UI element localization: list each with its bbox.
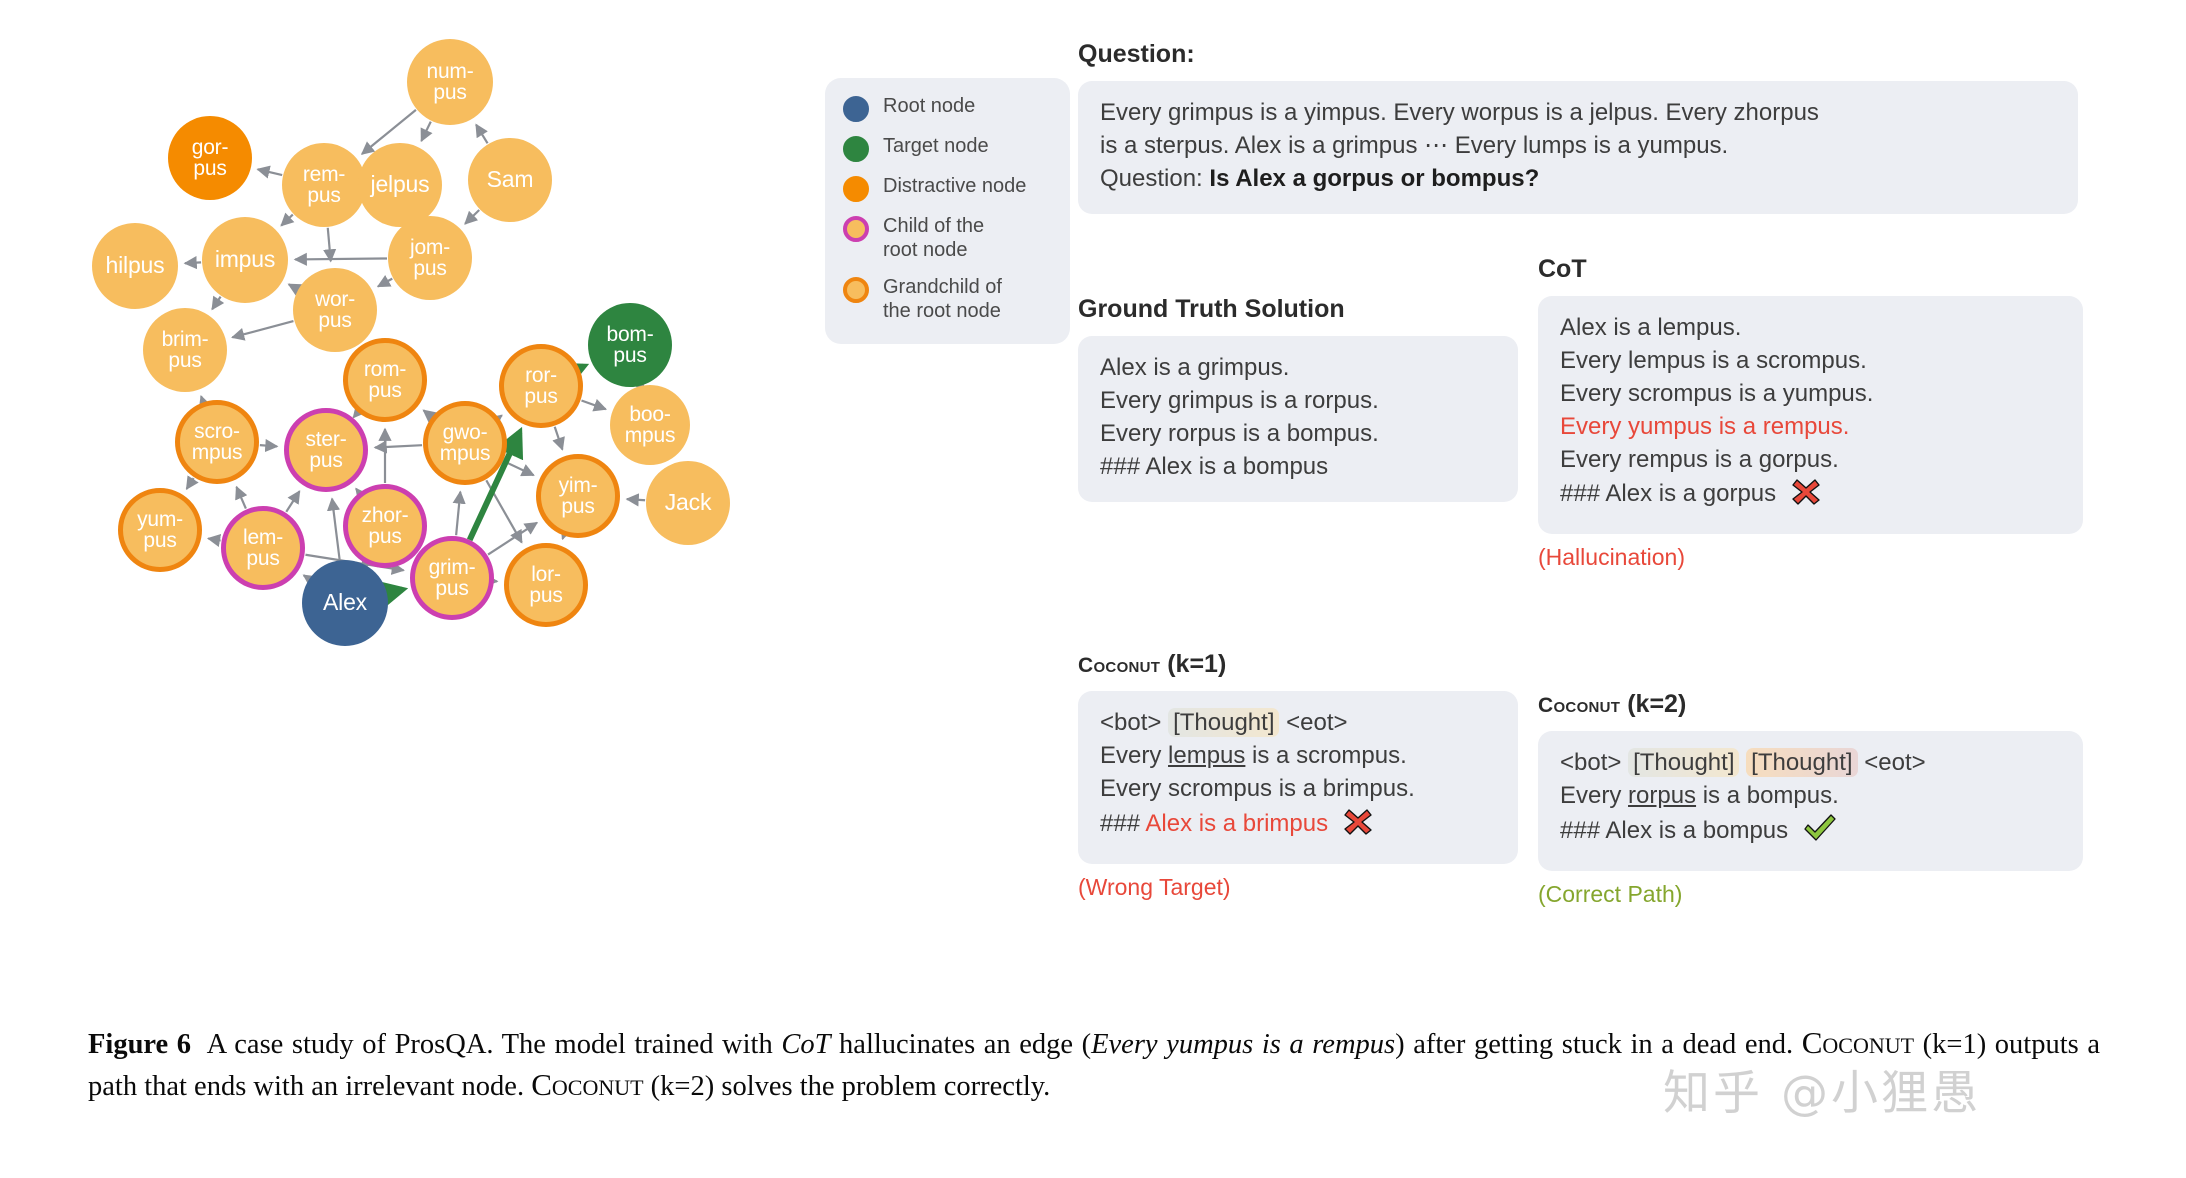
- graph-node-label: Sam: [487, 168, 534, 191]
- cot-block: CoT Alex is a lempus. Every lempus is a …: [1538, 255, 2083, 571]
- question-block: Question: Every grimpus is a yimpus. Eve…: [1078, 40, 2078, 214]
- coconut-k2-final-line: ### Alex is a bompus: [1560, 813, 2061, 853]
- graph-node-label: lor- pus: [529, 564, 562, 607]
- graph-node-label: num- pus: [426, 61, 473, 104]
- legend-item-child: Child of the root node: [843, 214, 1052, 263]
- graph-node-worpus[interactable]: wor- pus: [293, 268, 377, 352]
- graph-node-label: scro- mpus: [192, 421, 243, 464]
- graph-node-lorpus[interactable]: lor- pus: [504, 543, 588, 627]
- caption-coconut-1: Coconut: [1802, 1025, 1914, 1060]
- graph-edge: [289, 284, 298, 289]
- ground-truth-bubble: Alex is a grimpus. Every grimpus is a ro…: [1078, 336, 1518, 502]
- caption-space: [191, 1029, 207, 1060]
- graph-node-label: jom- pus: [410, 237, 450, 280]
- graph-node-label: wor- pus: [315, 289, 355, 332]
- graph-node-label: hilpus: [106, 254, 165, 277]
- ground-truth-heading: Ground Truth Solution: [1078, 295, 1518, 324]
- caption-text-1: A case study of ProsQA. The model traine…: [207, 1029, 782, 1060]
- coconut-k2-line-2-pre: Every: [1560, 782, 1628, 809]
- graph-node-jompus[interactable]: jom- pus: [388, 216, 472, 300]
- graph-edge: [421, 122, 430, 141]
- graph-edge: [627, 499, 645, 500]
- coconut-k2-line-2-underline: rorpus: [1628, 782, 1696, 809]
- coconut-k2-line-2-post: is a bompus.: [1696, 782, 1839, 809]
- graph-edge: [555, 427, 563, 450]
- coconut-k1-line-2-pre: Every: [1100, 742, 1168, 769]
- caption-text-3: ) after getting stuck in a dead end.: [1395, 1029, 1802, 1060]
- graph-edge: [563, 536, 564, 538]
- graph-edge: [201, 396, 203, 401]
- graph-node-jack[interactable]: Jack: [646, 461, 730, 545]
- graph-node-lempus[interactable]: lem- pus: [221, 506, 305, 590]
- graph-edge: [456, 492, 460, 535]
- check-icon: [1803, 813, 1837, 853]
- graph-edge: [237, 487, 246, 509]
- graph-node-impus[interactable]: impus: [202, 217, 288, 303]
- coconut-k1-block: Coconut (k=1) <bot> [Thought] <eot> Ever…: [1078, 650, 1518, 901]
- graph-edge: [423, 410, 431, 416]
- graph-node-rempus[interactable]: rem- pus: [282, 143, 366, 227]
- coconut-k1-line-2-post: is a scrompus.: [1245, 742, 1406, 769]
- coconut-k2-bubble: <bot> [Thought] [Thought] <eot> Every ro…: [1538, 731, 2083, 871]
- graph-edge: [328, 228, 331, 261]
- cot-final-line: ### Alex is a gorpus: [1560, 476, 2061, 516]
- legend-swatch-grandchild-node: [843, 277, 869, 303]
- coconut-k1-token-line: <bot> [Thought] <eot>: [1100, 707, 1496, 740]
- coconut-k2-block: Coconut (k=2) <bot> [Thought] [Thought] …: [1538, 690, 2083, 908]
- graph-node-label: gor- pus: [192, 137, 229, 180]
- coconut-k2-heading-k: (k=2): [1620, 690, 1686, 718]
- cot-final-text: ### Alex is a gorpus: [1560, 480, 1776, 507]
- cross-icon: [1343, 806, 1373, 846]
- coconut-k1-line-2-underline: lempus: [1168, 742, 1245, 769]
- graph-edge: [281, 215, 293, 226]
- graph-node-sterpus[interactable]: ster- pus: [284, 408, 368, 492]
- cot-line: Every scrompus is a yumpus.: [1560, 378, 2061, 411]
- coconut-k1-heading: Coconut (k=1): [1078, 650, 1518, 679]
- legend-item-distractive: Distractive node: [843, 174, 1052, 202]
- question-line-3: Question: Is Alex a gorpus or bompus?: [1100, 163, 2056, 196]
- question-line-2: is a sterpus. Alex is a grimpus ⋯ Every …: [1100, 130, 2056, 163]
- ground-truth-line: ### Alex is a bompus: [1100, 451, 1496, 484]
- graph-node-grimpus[interactable]: grim- pus: [410, 536, 494, 620]
- graph-node-hilpus[interactable]: hilpus: [92, 223, 178, 309]
- question-line-3-bold: Is Alex a gorpus or bompus?: [1209, 165, 1539, 192]
- legend-item-root: Root node: [843, 94, 1052, 122]
- graph-legend: Root node Target node Distractive node C…: [825, 78, 1070, 344]
- graph-edge: [356, 489, 359, 492]
- coconut-k1-final-line: ### Alex is a brimpus: [1100, 806, 1496, 846]
- caption-text-2: hallucinates an edge (: [830, 1029, 1091, 1060]
- ground-truth-block: Ground Truth Solution Alex is a grimpus.…: [1078, 295, 1518, 502]
- graph-node-label: ster- pus: [305, 429, 346, 472]
- graph-edge: [332, 499, 340, 560]
- legend-item-grandchild: Grandchild of the root node: [843, 275, 1052, 324]
- caption-text-5: (k=2) solves the problem correctly.: [644, 1071, 1051, 1102]
- graph-node-jelpus[interactable]: jelpus: [358, 143, 442, 227]
- cot-hallucinated-line: Every yumpus is a rempus.: [1560, 411, 2061, 444]
- coconut-k1-line-3: Every scrompus is a brimpus.: [1100, 773, 1496, 806]
- coconut-k2-heading-name: Coconut: [1538, 694, 1620, 717]
- thought-token: [Thought]: [1168, 708, 1279, 737]
- caption-italic-cot: CoT: [781, 1029, 830, 1060]
- graph-node-label: lem- pus: [243, 527, 283, 570]
- graph-node-label: zhor- pus: [362, 505, 409, 548]
- coconut-k1-final-hash: ###: [1100, 810, 1145, 837]
- graph-edge: [260, 445, 277, 446]
- caption-coconut-2: Coconut: [531, 1067, 643, 1102]
- legend-label-target-node: Target node: [883, 134, 989, 158]
- graph-edge: [286, 491, 299, 512]
- question-heading-text: Question: [1078, 40, 1186, 68]
- cot-line: Every rempus is a gorpus.: [1560, 444, 2061, 477]
- graph-node-yimpus[interactable]: yim- pus: [536, 454, 620, 538]
- ground-truth-line: Alex is a grimpus.: [1100, 352, 1496, 385]
- coconut-k2-final-text: ### Alex is a bompus: [1560, 817, 1788, 844]
- coconut-k1-line-2: Every lempus is a scrompus.: [1100, 740, 1496, 773]
- coconut-k2-heading: Coconut (k=2): [1538, 690, 2083, 719]
- graph-node-label: brim- pus: [162, 329, 209, 372]
- graph-node-scrompus[interactable]: scro- mpus: [175, 400, 259, 484]
- graph-edge: [187, 478, 194, 489]
- graph-edge: [212, 297, 220, 310]
- graph-node-sam[interactable]: Sam: [468, 138, 552, 222]
- question-line-1: Every grimpus is a yimpus. Every worpus …: [1100, 97, 2056, 130]
- graph-node-label: grim- pus: [429, 557, 476, 600]
- cot-note: (Hallucination): [1538, 544, 2083, 571]
- graph-edge-solution: [387, 590, 402, 594]
- graph-edge: [185, 262, 201, 263]
- figure-page: num- pusgor- pusrem- pusjelpusSamimpushi…: [0, 0, 2186, 1178]
- question-heading: Question:: [1078, 40, 2078, 69]
- graph-edge: [258, 169, 282, 175]
- caption-italic-edge: Every yumpus is a rempus: [1091, 1029, 1395, 1060]
- coconut-k1-note: (Wrong Target): [1078, 874, 1518, 901]
- ground-truth-line: Every grimpus is a rorpus.: [1100, 385, 1496, 418]
- graph-node-label: rom- pus: [364, 359, 406, 402]
- graph-node-label: gwo- mpus: [440, 422, 491, 465]
- figure-caption: Figure 6 A case study of ProsQA. The mod…: [88, 1022, 2100, 1107]
- graph-node-label: yim- pus: [559, 475, 598, 518]
- graph-node-label: ror- pus: [524, 365, 557, 408]
- graph-edge: [304, 575, 309, 578]
- explanation-column: Question: Every grimpus is a yimpus. Eve…: [1078, 40, 2138, 950]
- graph-node-rorpus[interactable]: ror- pus: [499, 344, 583, 428]
- eot-token: <eot>: [1286, 709, 1347, 736]
- prosqa-graph: num- pusgor- pusrem- pusjelpusSamimpushi…: [60, 30, 1050, 950]
- cot-bubble: Alex is a lempus. Every lempus is a scro…: [1538, 296, 2083, 534]
- graph-node-bompus[interactable]: bom- pus: [588, 303, 672, 387]
- graph-node-rompus[interactable]: rom- pus: [343, 338, 427, 422]
- legend-swatch-child-node: [843, 216, 869, 242]
- legend-label-grandchild-node: Grandchild of the root node: [883, 275, 1002, 324]
- graph-node-gwompus[interactable]: gwo- mpus: [423, 401, 507, 485]
- cot-line: Every lempus is a scrompus.: [1560, 345, 2061, 378]
- graph-edge: [499, 415, 501, 417]
- legend-swatch-root-node: [843, 96, 869, 122]
- graph-edge: [476, 125, 487, 144]
- legend-label-root-node: Root node: [883, 94, 975, 118]
- coconut-k1-heading-name: Coconut: [1078, 654, 1160, 677]
- graph-edge: [232, 321, 293, 337]
- cross-icon: [1791, 476, 1821, 516]
- question-bubble: Every grimpus is a yimpus. Every worpus …: [1078, 81, 2078, 214]
- bot-token: <bot>: [1100, 709, 1161, 736]
- graph-node-numpus[interactable]: num- pus: [407, 39, 493, 125]
- graph-node-alex[interactable]: Alex: [302, 560, 388, 646]
- graph-node-yumpus[interactable]: yum- pus: [118, 488, 202, 572]
- thought-token: [Thought]: [1746, 748, 1857, 777]
- coconut-k1-heading-k: (k=1): [1160, 650, 1226, 678]
- graph-node-label: impus: [215, 248, 275, 271]
- graph-node-label: bom- pus: [606, 324, 653, 367]
- graph-node-boompus[interactable]: boo- mpus: [610, 385, 690, 465]
- cot-line: Alex is a lempus.: [1560, 312, 2061, 345]
- graph-edge: [375, 445, 422, 447]
- graph-edge: [581, 400, 605, 409]
- graph-edge: [378, 279, 392, 287]
- graph-node-gorpus[interactable]: gor- pus: [168, 116, 252, 200]
- legend-label-child-node: Child of the root node: [883, 214, 984, 263]
- legend-label-distractive-node: Distractive node: [883, 174, 1026, 198]
- caption-figure-label: Figure 6: [88, 1029, 191, 1060]
- graph-node-label: boo- mpus: [625, 404, 676, 447]
- coconut-k1-final-red: Alex is a brimpus: [1145, 810, 1328, 837]
- legend-swatch-distractive-node: [843, 176, 869, 202]
- graph-edge: [208, 538, 220, 540]
- graph-node-label: jelpus: [371, 173, 430, 196]
- graph-node-zhorpus[interactable]: zhor- pus: [343, 484, 427, 568]
- graph-node-label: yum- pus: [137, 509, 183, 552]
- graph-edge: [295, 258, 387, 259]
- question-heading-colon: :: [1186, 40, 1194, 68]
- coconut-k1-bubble: <bot> [Thought] <eot> Every lempus is a …: [1078, 691, 1518, 864]
- coconut-k2-note: (Correct Path): [1538, 881, 2083, 908]
- bot-token: <bot>: [1560, 749, 1621, 776]
- graph-node-label: Jack: [665, 491, 712, 514]
- graph-edge-solution: [579, 366, 584, 368]
- eot-token: <eot>: [1864, 749, 1925, 776]
- coconut-k2-token-line: <bot> [Thought] [Thought] <eot>: [1560, 747, 2061, 780]
- graph-node-label: rem- pus: [303, 164, 345, 207]
- thought-token: [Thought]: [1628, 748, 1739, 777]
- graph-edge: [465, 210, 479, 224]
- cot-heading: CoT: [1538, 255, 2083, 284]
- graph-node-label: Alex: [323, 591, 367, 614]
- coconut-k2-line-2: Every rorpus is a bompus.: [1560, 780, 2061, 813]
- question-line-3-prefix: Question:: [1100, 165, 1209, 192]
- legend-item-target: Target node: [843, 134, 1052, 162]
- ground-truth-line: Every rorpus is a bompus.: [1100, 418, 1496, 451]
- graph-node-brimpus[interactable]: brim- pus: [143, 308, 227, 392]
- legend-swatch-target-node: [843, 136, 869, 162]
